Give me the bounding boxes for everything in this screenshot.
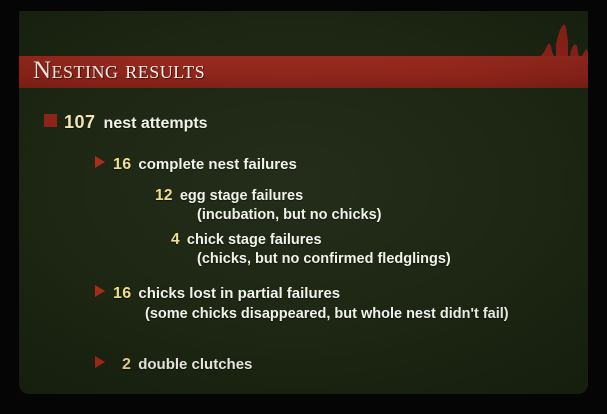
slide-screenshot: Nesting results 107nest attempts 16compl…	[0, 0, 607, 414]
bullet-complete-nest-failures: 16complete nest failures	[95, 156, 297, 174]
bullet-number: 16	[113, 285, 131, 302]
bullet-label: double clutches	[138, 356, 252, 373]
triangle-bullet-icon	[95, 156, 105, 168]
bullet-chick-stage-failures: 4chick stage failures	[171, 231, 322, 249]
bullet-label: chicks lost in partial failures	[138, 285, 340, 302]
note-chicks-lost-partial-failures: (some chicks disappeared, but whole nest…	[145, 306, 509, 322]
page-title: Nesting results	[33, 57, 205, 85]
bullet-label: nest attempts	[104, 115, 208, 132]
title-banner: Nesting results	[19, 56, 588, 88]
bullet-label: chick stage failures	[187, 232, 322, 248]
bullet-label: complete nest failures	[138, 156, 296, 173]
triangle-bullet-icon	[95, 285, 105, 297]
presentation-slide: Nesting results 107nest attempts 16compl…	[19, 11, 588, 394]
bullet-number: 12	[155, 187, 173, 204]
bullet-egg-stage-failures: 12egg stage failures	[155, 187, 303, 205]
bullet-number: 16	[113, 156, 131, 173]
bullet-number: 4	[171, 231, 180, 248]
triangle-bullet-icon	[95, 356, 105, 368]
note-egg-stage-failures: (incubation, but no chicks)	[197, 207, 381, 223]
bullet-chicks-lost-partial-failures: 16chicks lost in partial failures	[95, 285, 340, 303]
bullet-double-clutches: 2double clutches	[95, 356, 252, 374]
bullet-nest-attempts: 107nest attempts	[44, 112, 208, 133]
bullet-label: egg stage failures	[180, 188, 303, 204]
square-bullet-icon	[44, 114, 57, 127]
bullet-number: 107	[64, 112, 96, 132]
bullet-number: 2	[122, 356, 131, 373]
note-chick-stage-failures: (chicks, but no confirmed fledglings)	[197, 251, 451, 267]
